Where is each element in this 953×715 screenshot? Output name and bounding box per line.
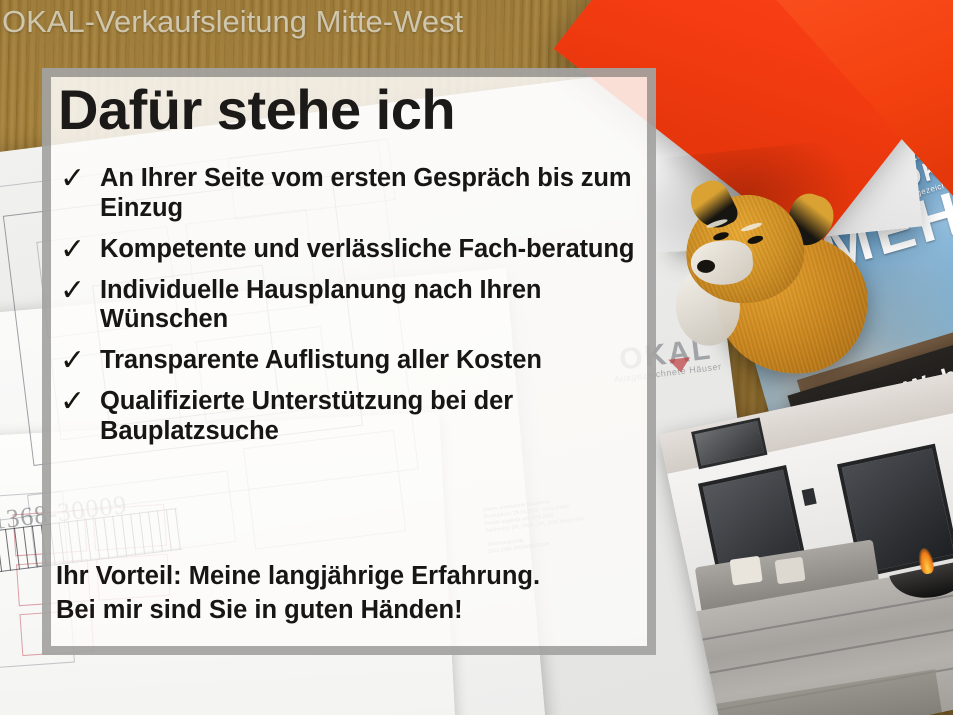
page-title: Dafür stehe ich xyxy=(58,82,455,138)
closing-line-2: Bei mir sind Sie in guten Händen! xyxy=(56,594,650,628)
list-item: ✓ Transparente Auflistung aller Kosten xyxy=(56,346,648,376)
closing-statement: Ihr Vorteil: Meine langjährige Erfahrung… xyxy=(56,560,650,627)
photo-cushion-left xyxy=(729,556,762,586)
okal-triangle-icon xyxy=(668,357,692,374)
list-item-label: Transparente Auflistung aller Kosten xyxy=(100,346,648,376)
checkmark-icon: ✓ xyxy=(56,164,100,194)
checkmark-icon: ✓ xyxy=(56,387,100,417)
checkmark-icon: ✓ xyxy=(56,235,100,265)
closing-line-1: Ihr Vorteil: Meine langjährige Erfahrung… xyxy=(56,560,650,594)
checkmark-icon: ✓ xyxy=(56,276,100,306)
fox-plush-figurine xyxy=(679,169,873,386)
screenshot-root: 1368-30009 Dateie: Unterarchiv Bauherren… xyxy=(0,0,953,715)
list-item: ✓ Individuelle Hausplanung nach Ihren Wü… xyxy=(56,276,648,336)
list-item-label: Kompetente und verlässliche Fach-beratun… xyxy=(100,235,648,265)
list-item-label: Individuelle Hausplanung nach Ihren Wüns… xyxy=(100,276,648,336)
list-item-label: Qualifizierte Unterstützung bei der Baup… xyxy=(100,387,648,447)
photo-cushion-right xyxy=(775,557,806,585)
list-item: ✓ An Ihrer Seite vom ersten Gespräch bis… xyxy=(56,164,648,224)
caption-overlay: OKAL-Verkaufsleitung Mitte-West xyxy=(0,0,953,40)
benefits-list: ✓ An Ihrer Seite vom ersten Gespräch bis… xyxy=(56,164,648,458)
list-item: ✓ Qualifizierte Unterstützung bei der Ba… xyxy=(56,387,648,447)
panel-content: Dafür stehe ich ✓ An Ihrer Seite vom ers… xyxy=(42,68,656,655)
list-item-label: An Ihrer Seite vom ersten Gespräch bis z… xyxy=(100,164,648,224)
checkmark-icon: ✓ xyxy=(56,346,100,376)
list-item: ✓ Kompetente und verlässliche Fach-berat… xyxy=(56,235,648,265)
